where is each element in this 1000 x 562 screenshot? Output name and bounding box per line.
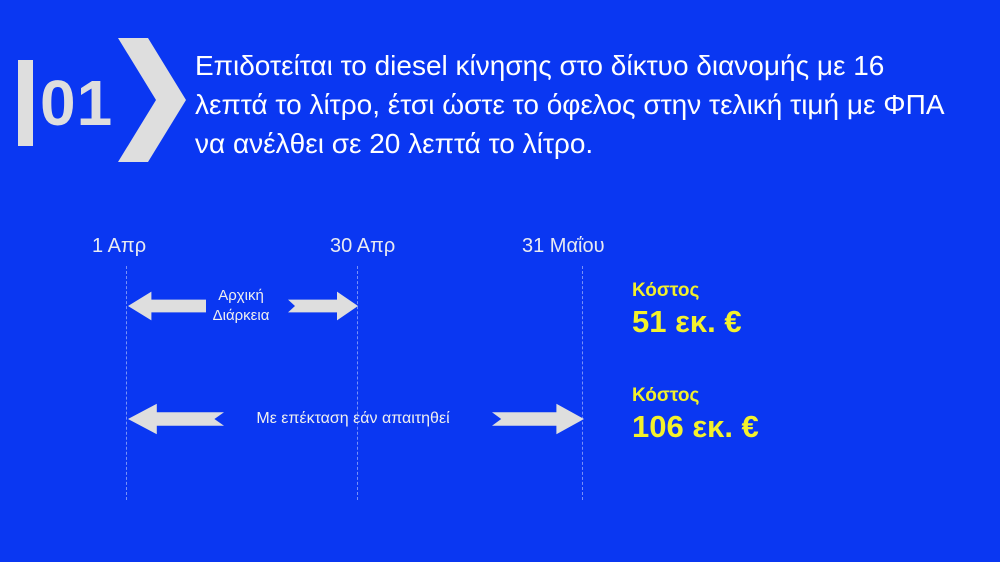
timeline-row-label: Με επέκταση εάν απαιτηθεί bbox=[218, 409, 488, 429]
timeline-date-label: 31 Μαΐου bbox=[522, 235, 605, 258]
arrow-left-icon bbox=[128, 402, 224, 436]
slide-canvas: 01 Επιδοτείται το diesel κίνησης στο δίκ… bbox=[0, 0, 1000, 562]
cost-block: Κόστος 51 εκ. € bbox=[632, 279, 742, 341]
timeline-date-label: 30 Απρ bbox=[330, 235, 395, 258]
cost-value: 51 εκ. € bbox=[632, 303, 742, 341]
cost-title: Κόστος bbox=[632, 279, 742, 303]
timeline-guide-line bbox=[582, 266, 583, 500]
arrow-right-icon bbox=[288, 290, 358, 322]
arrow-right-icon bbox=[492, 402, 584, 436]
timeline-date-label: 1 Απρ bbox=[92, 235, 146, 258]
cost-value: 106 εκ. € bbox=[632, 408, 759, 446]
timeline-row-label: Αρχική Διάρκεια bbox=[196, 286, 286, 326]
timeline-guide-line bbox=[126, 266, 127, 500]
timeline: 1 Απρ 30 Απρ 31 Μαΐου Αρχική Διάρκεια Με… bbox=[0, 0, 1000, 562]
cost-title: Κόστος bbox=[632, 384, 759, 408]
cost-block: Κόστος 106 εκ. € bbox=[632, 384, 759, 446]
arrow-left-icon bbox=[128, 290, 206, 322]
